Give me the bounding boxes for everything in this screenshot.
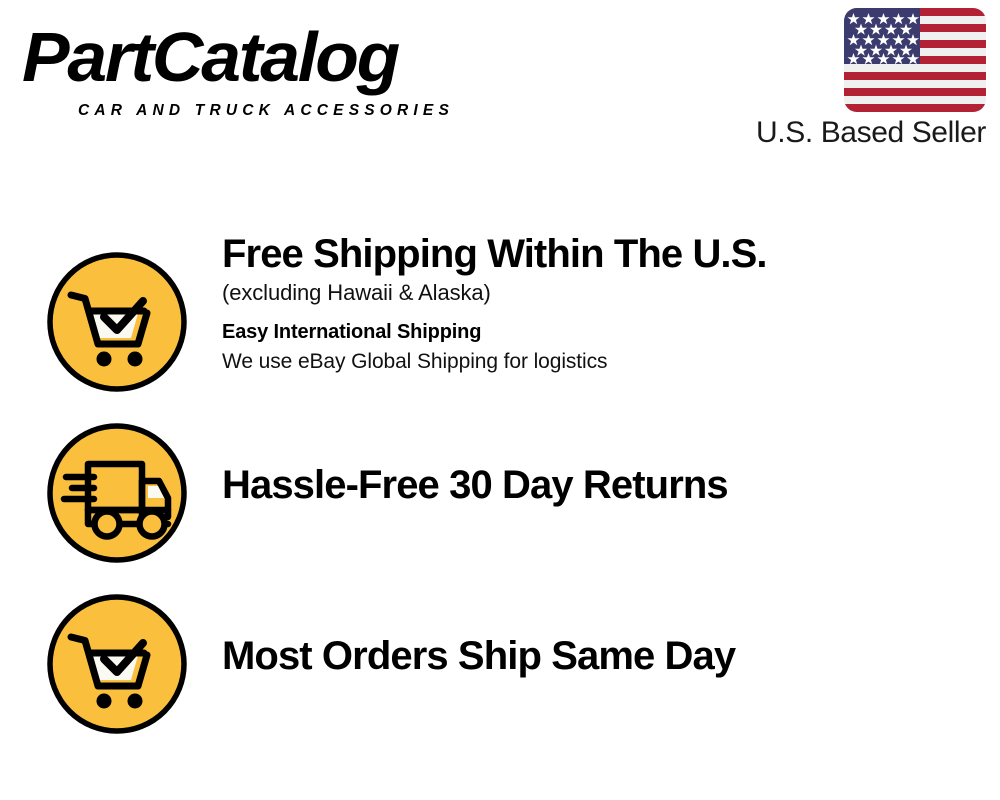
shopping-cart-check-icon (44, 591, 190, 737)
brand-logo[interactable]: PartCatalog CAR AND TRUCK ACCESSORIES (22, 18, 492, 118)
feature-extra-title: Easy International Shipping (222, 319, 982, 345)
feature-text-block: Most Orders Ship Same Day (222, 632, 982, 680)
feature-extra-subtitle: We use eBay Global Shipping for logistic… (222, 348, 982, 376)
shopping-cart-check-icon (44, 249, 190, 395)
feature-title: Free Shipping Within The U.S. (222, 230, 982, 278)
feature-row: Most Orders Ship Same Day (0, 576, 1000, 741)
us-based-seller-badge: U.S. Based Seller (714, 8, 986, 150)
feature-row: Hassle-Free 30 Day Returns (0, 405, 1000, 570)
feature-text-block: Hassle-Free 30 Day Returns (222, 461, 982, 509)
feature-title: Hassle-Free 30 Day Returns (222, 461, 982, 509)
feature-row: Free Shipping Within The U.S. (excluding… (0, 230, 1000, 410)
us-flag-icon (844, 8, 986, 112)
feature-subtitle: (excluding Hawaii & Alaska) (222, 278, 982, 308)
page-header: PartCatalog CAR AND TRUCK ACCESSORIES (0, 0, 1000, 170)
brand-wordmark: PartCatalog (22, 18, 398, 96)
seller-badge-label: U.S. Based Seller (714, 116, 986, 150)
delivery-truck-icon (44, 420, 190, 566)
brand-tagline: CAR AND TRUCK ACCESSORIES (78, 102, 454, 120)
feature-title: Most Orders Ship Same Day (222, 632, 982, 680)
feature-text-block: Free Shipping Within The U.S. (excluding… (222, 230, 982, 376)
